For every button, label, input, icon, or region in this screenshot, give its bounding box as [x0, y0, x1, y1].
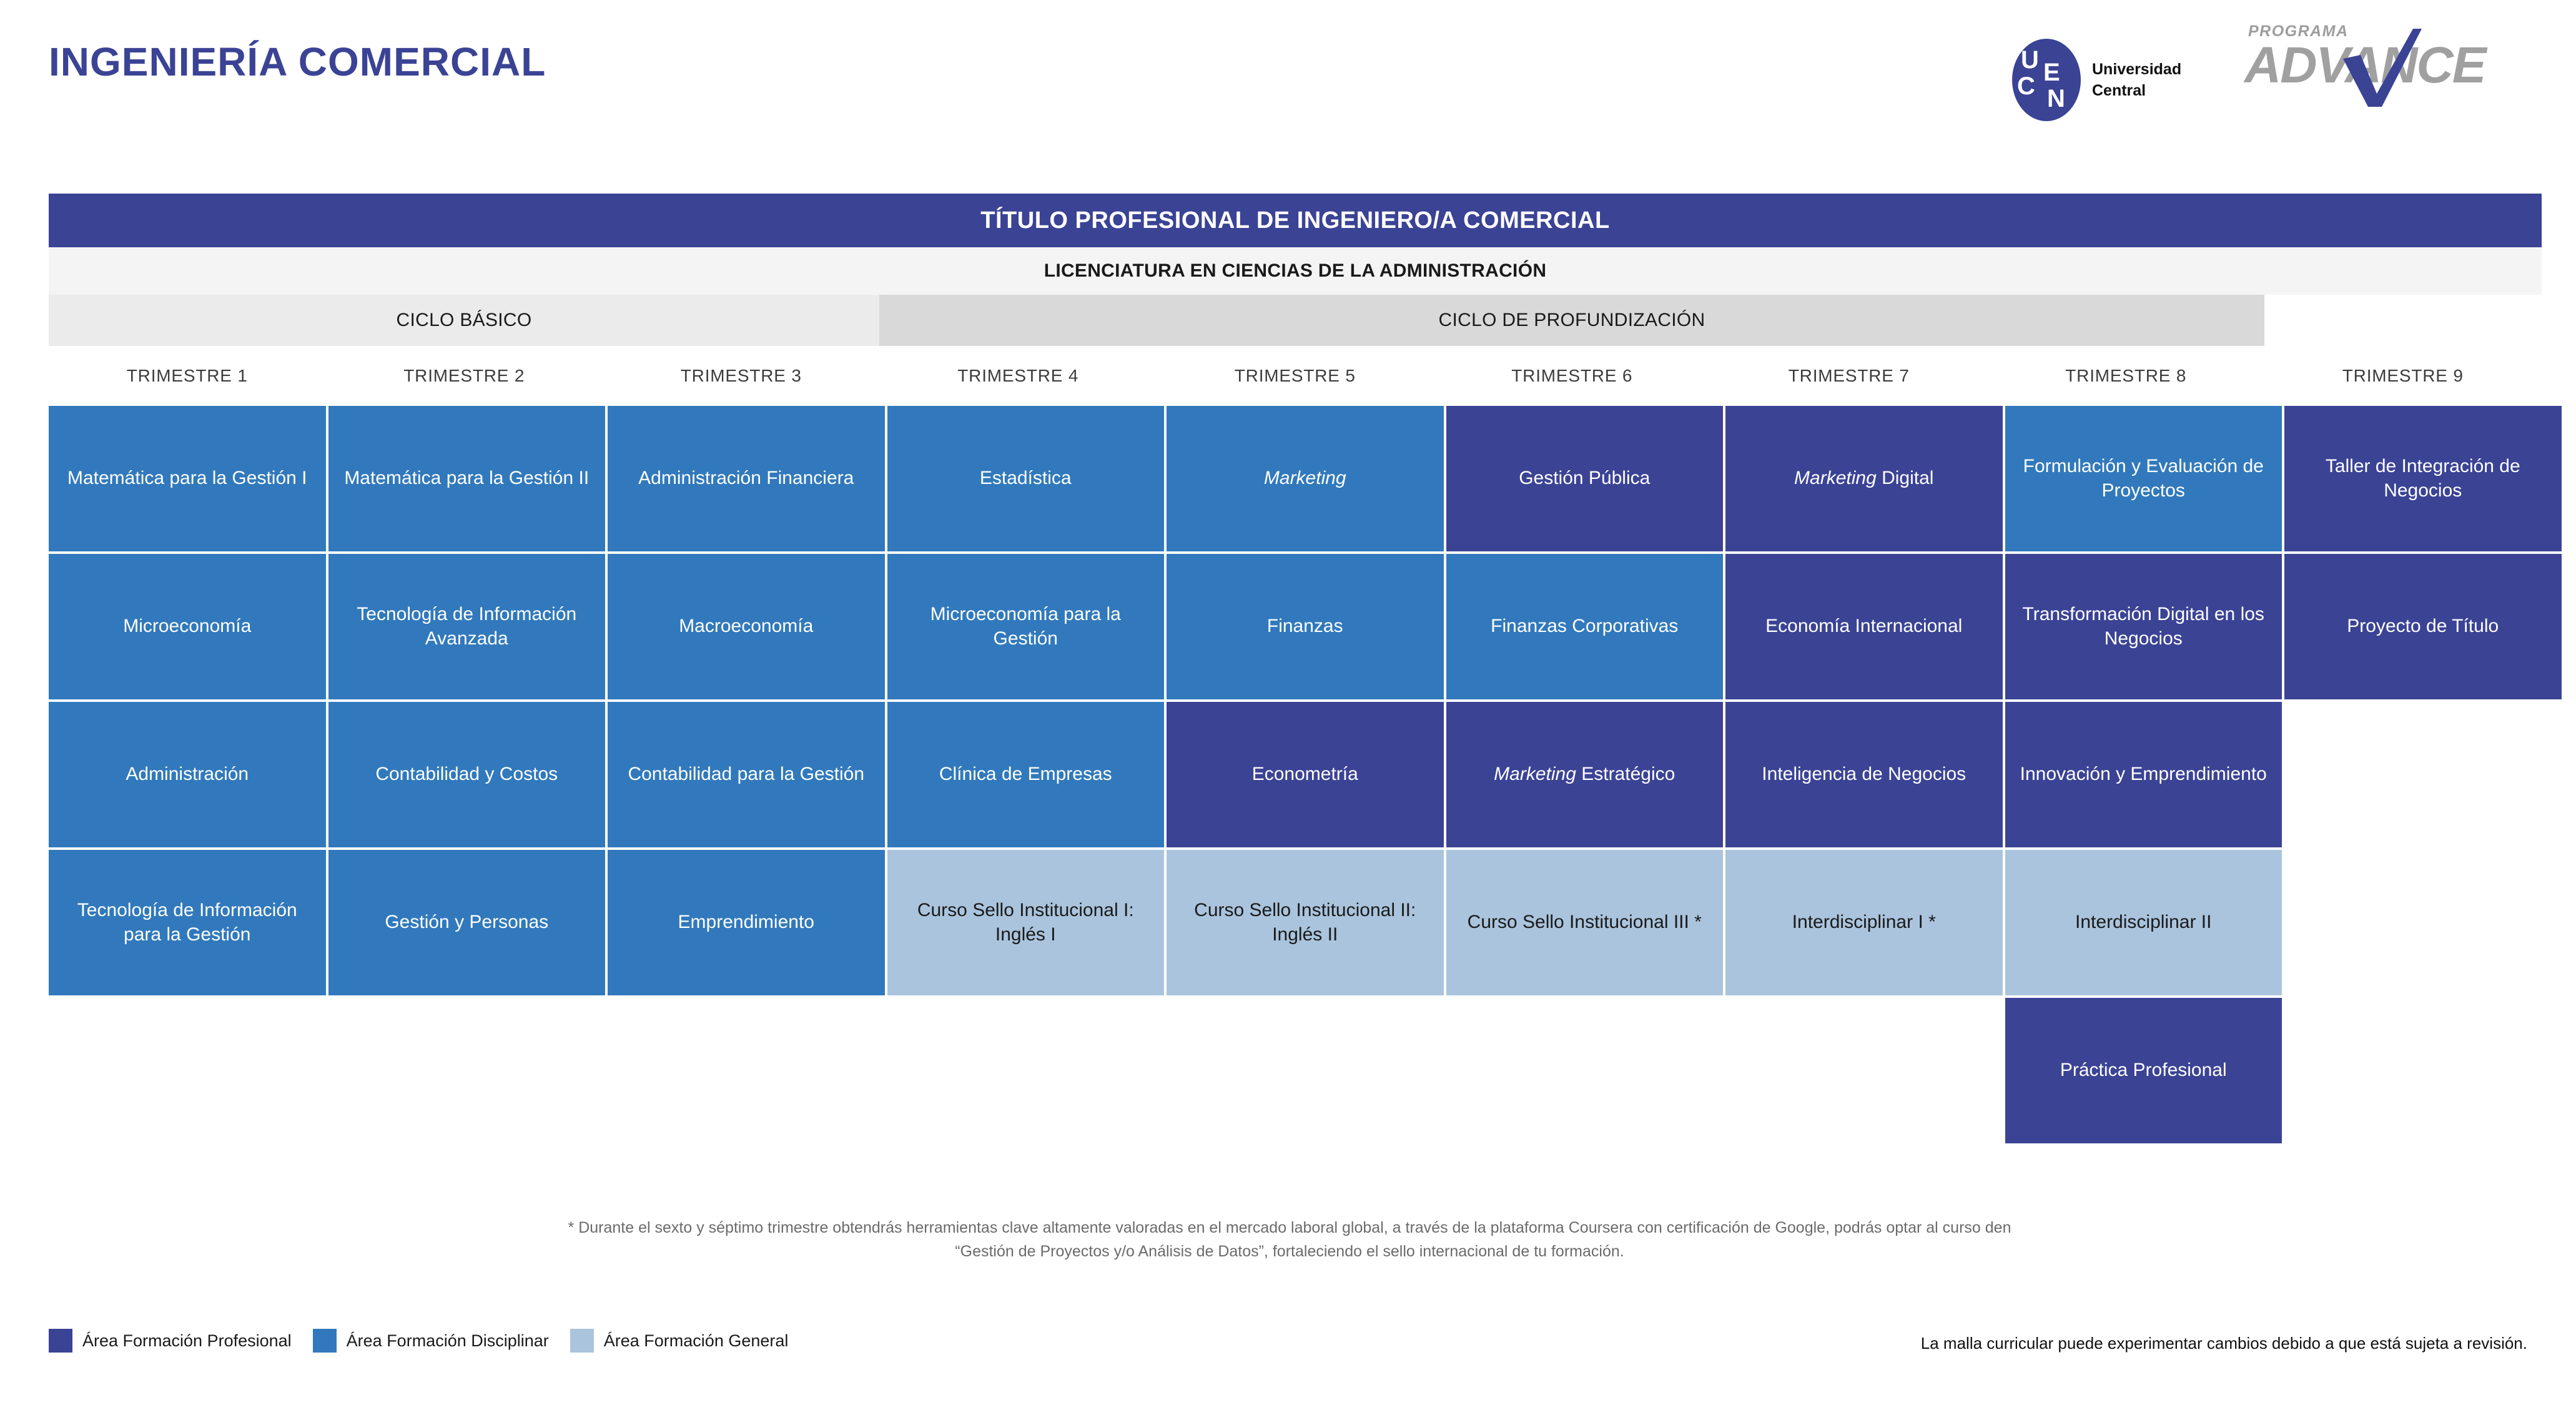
- ucen-mark-icon: U C E N: [2012, 39, 2081, 121]
- ucen-name-line-1: Universidad: [2092, 59, 2181, 81]
- course-cell-empty: [2284, 998, 2562, 1143]
- course-label: Marketing: [1177, 466, 1434, 490]
- course-label: Interdisciplinar II: [2015, 910, 2273, 934]
- course-cell[interactable]: Gestión Pública: [1446, 406, 1724, 551]
- course-label: Finanzas: [1177, 614, 1434, 638]
- course-cell[interactable]: Marketing: [1167, 406, 1444, 551]
- trimester-header-6: TRIMESTRE 6: [1434, 346, 1711, 406]
- course-cell[interactable]: Contabilidad para la Gestión: [608, 702, 885, 847]
- course-label: Inteligencia de Negocios: [1735, 762, 1993, 786]
- course-label: Curso Sello Institucional I: Inglés I: [897, 899, 1155, 947]
- course-label: Estadística: [897, 466, 1155, 490]
- course-label: Administración: [59, 762, 316, 786]
- course-label: Matemática para la Gestión I: [59, 466, 316, 490]
- course-cell[interactable]: Marketing Digital: [1725, 406, 2003, 551]
- course-cell[interactable]: Taller de Integración de Negocios: [2284, 406, 2562, 551]
- ucen-letter-u: U: [2021, 47, 2039, 72]
- course-cell[interactable]: Innovación y Emprendimiento: [2005, 702, 2282, 847]
- course-cell[interactable]: Estadística: [887, 406, 1165, 551]
- trimester-header-7: TRIMESTRE 7: [1710, 346, 1988, 406]
- course-cell[interactable]: Transformación Digital en los Negocios: [2005, 554, 2282, 699]
- trimester-header-4: TRIMESTRE 4: [880, 346, 1157, 406]
- course-label: Proyecto de Título: [2294, 614, 2552, 638]
- course-label: Economía Internacional: [1735, 614, 1993, 638]
- legend-item-2: Área Formación Disciplinar: [313, 1329, 549, 1353]
- legend-label: Área Formación General: [604, 1331, 789, 1351]
- course-label: Tecnología de Información Avanzada: [338, 603, 596, 651]
- course-label: Curso Sello Institucional III *: [1456, 910, 1714, 934]
- legend-label: Área Formación Profesional: [82, 1331, 292, 1351]
- course-cell-empty: [49, 998, 326, 1143]
- course-label: Contabilidad para la Gestión: [618, 762, 875, 786]
- cycle-basico: CICLO BÁSICO: [49, 295, 879, 346]
- course-label: Innovación y Emprendimiento: [2015, 762, 2273, 786]
- course-cell[interactable]: Finanzas: [1167, 554, 1444, 699]
- course-label: Finanzas Corporativas: [1456, 614, 1714, 638]
- course-cell[interactable]: Emprendimiento: [608, 850, 885, 995]
- course-cell[interactable]: Curso Sello Institucional I: Inglés I: [887, 850, 1165, 995]
- course-cell[interactable]: Proyecto de Título: [2284, 554, 2562, 699]
- course-label: Taller de Integración de Negocios: [2294, 455, 2552, 503]
- ucen-name-line-2: Central: [2092, 80, 2181, 102]
- course-label: Clínica de Empresas: [897, 762, 1155, 786]
- course-cell[interactable]: Matemática para la Gestión I: [49, 406, 326, 551]
- cycle-band-row: CICLO BÁSICO CICLO DE PROFUNDIZACIÓN: [49, 295, 2542, 346]
- course-label: Interdisciplinar I *: [1735, 910, 1993, 934]
- course-cell[interactable]: Interdisciplinar I *: [1725, 850, 2003, 995]
- ucen-letter-c: C: [2017, 74, 2035, 99]
- course-label: Macroeconomía: [618, 614, 875, 638]
- course-cell[interactable]: Tecnología de Información para la Gestió…: [49, 850, 326, 995]
- ucen-letter-n: N: [2047, 86, 2065, 111]
- trimester-header-2: TRIMESTRE 2: [326, 346, 603, 406]
- course-cell[interactable]: Marketing Estratégico: [1446, 702, 1724, 847]
- course-cell[interactable]: Contabilidad y Costos: [328, 702, 606, 847]
- disclaimer-text: La malla curricular puede experimentar c…: [1921, 1334, 2527, 1353]
- degree-subtitle-band: LICENCIATURA EN CIENCIAS DE LA ADMINISTR…: [49, 247, 2542, 295]
- course-cell[interactable]: Microeconomía: [49, 554, 326, 699]
- trimester-header-8: TRIMESTRE 8: [1988, 346, 2265, 406]
- course-cell[interactable]: Econometría: [1167, 702, 1444, 847]
- legend-swatch-icon: [49, 1329, 72, 1353]
- trimester-header-9: TRIMESTRE 9: [2264, 346, 2542, 406]
- legend-swatch-icon: [313, 1329, 337, 1353]
- course-cell-empty: [887, 998, 1165, 1143]
- page-title: INGENIERÍA COMERCIAL: [49, 39, 546, 85]
- checkmark-icon: [2341, 29, 2422, 107]
- cycle-profundizacion: CICLO DE PROFUNDIZACIÓN: [879, 295, 2264, 346]
- course-cell[interactable]: Curso Sello Institucional II: Inglés II: [1167, 850, 1444, 995]
- course-label: Formulación y Evaluación de Proyectos: [2015, 455, 2273, 503]
- legend-label: Área Formación Disciplinar: [347, 1331, 549, 1351]
- footnote-line-2: “Gestión de Proyectos y/o Análisis de Da…: [206, 1240, 2373, 1264]
- degree-title-band: TÍTULO PROFESIONAL DE INGENIERO/A COMERC…: [49, 194, 2542, 247]
- trimester-header-1: TRIMESTRE 1: [49, 346, 326, 406]
- trimester-header-row: TRIMESTRE 1TRIMESTRE 2TRIMESTRE 3TRIMEST…: [49, 346, 2542, 406]
- course-label: Administración Financiera: [618, 466, 875, 490]
- course-label: Curso Sello Institucional II: Inglés II: [1177, 899, 1434, 947]
- legend-item-1: Área Formación Profesional: [49, 1329, 292, 1353]
- cycle-band-spacer: [2264, 295, 2542, 346]
- course-label: Marketing Estratégico: [1456, 762, 1714, 786]
- course-label: Matemática para la Gestión II: [338, 466, 596, 490]
- legend: Área Formación ProfesionalÁrea Formación…: [49, 1329, 809, 1353]
- legend-swatch-icon: [570, 1329, 594, 1353]
- course-cell[interactable]: Finanzas Corporativas: [1446, 554, 1724, 699]
- course-cell[interactable]: Inteligencia de Negocios: [1725, 702, 2003, 847]
- footnote-line-1: * Durante el sexto y séptimo trimestre o…: [206, 1216, 2373, 1240]
- course-label: Gestión y Personas: [338, 910, 596, 934]
- course-cell-empty: [2284, 702, 2562, 847]
- curriculum-poster: INGENIERÍA COMERCIAL U C E N Universidad…: [0, 0, 2576, 1405]
- course-cell-empty: [1446, 998, 1724, 1143]
- poster-header: INGENIERÍA COMERCIAL U C E N Universidad…: [0, 0, 2576, 134]
- footnote: * Durante el sexto y séptimo trimestre o…: [206, 1216, 2373, 1263]
- ucen-letter-e: E: [2043, 60, 2060, 85]
- course-cell-empty: [1725, 998, 2003, 1143]
- course-label: Contabilidad y Costos: [338, 762, 596, 786]
- advance-logo: PROGRAMA ADVANCE: [2222, 22, 2484, 104]
- trimester-header-5: TRIMESTRE 5: [1157, 346, 1434, 406]
- course-cell[interactable]: Formulación y Evaluación de Proyectos: [2005, 406, 2282, 551]
- course-cell[interactable]: Macroeconomía: [608, 554, 885, 699]
- course-label: Práctica Profesional: [2015, 1058, 2273, 1082]
- course-cell[interactable]: Curso Sello Institucional III *: [1446, 850, 1724, 995]
- course-cell[interactable]: Microeconomía para la Gestión: [887, 554, 1165, 699]
- course-cell[interactable]: Interdisciplinar II: [2005, 850, 2282, 995]
- ucen-wordmark: Universidad Central: [2092, 59, 2181, 102]
- course-cell[interactable]: Administración Financiera: [608, 406, 885, 551]
- course-cell-empty: [328, 998, 606, 1143]
- course-label: Microeconomía para la Gestión: [897, 603, 1155, 651]
- course-cell[interactable]: Matemática para la Gestión II: [328, 406, 606, 551]
- course-cell-empty: [608, 998, 885, 1143]
- course-cell[interactable]: Clínica de Empresas: [887, 702, 1165, 847]
- course-label: Econometría: [1177, 762, 1434, 786]
- ucen-logo: U C E N Universidad Central: [2012, 39, 2181, 121]
- curriculum-grid-block: TÍTULO PROFESIONAL DE INGENIERO/A COMERC…: [49, 194, 2542, 1143]
- course-cell[interactable]: Práctica Profesional: [2005, 998, 2282, 1143]
- course-cell-empty: [2284, 850, 2562, 995]
- course-cell-empty: [1167, 998, 1444, 1143]
- course-cell[interactable]: Administración: [49, 702, 326, 847]
- trimester-header-3: TRIMESTRE 3: [603, 346, 880, 406]
- course-cell[interactable]: Economía Internacional: [1725, 554, 2003, 699]
- course-label: Emprendimiento: [618, 910, 875, 934]
- course-label: Transformación Digital en los Negocios: [2015, 603, 2273, 651]
- course-cell[interactable]: Tecnología de Información Avanzada: [328, 554, 606, 699]
- course-cell[interactable]: Gestión y Personas: [328, 850, 606, 995]
- course-label: Tecnología de Información para la Gestió…: [59, 899, 316, 947]
- course-label: Marketing Digital: [1735, 466, 1993, 490]
- course-label: Gestión Pública: [1456, 466, 1714, 490]
- course-grid: Matemática para la Gestión IMatemática p…: [49, 406, 2542, 1143]
- course-label: Microeconomía: [59, 614, 316, 638]
- legend-item-3: Área Formación General: [570, 1329, 789, 1353]
